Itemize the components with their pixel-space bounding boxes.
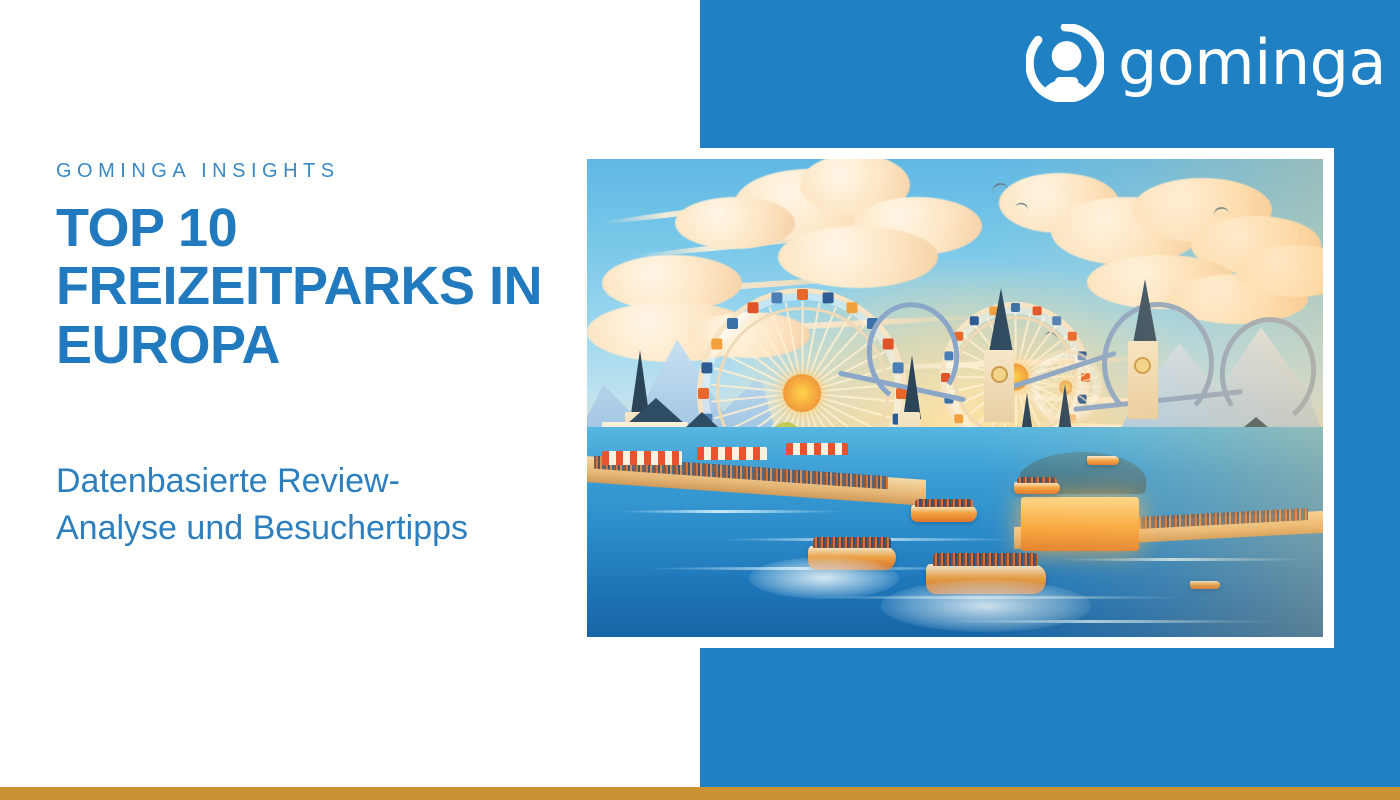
ferris-wheel-gondola	[822, 292, 833, 303]
ferris-wheel-gondola	[701, 362, 712, 373]
clock-face-icon	[991, 366, 1008, 383]
market-awning	[786, 443, 848, 455]
boat-deck-passengers	[813, 537, 890, 548]
wheel-hub	[783, 374, 821, 412]
boat-hull	[1190, 581, 1220, 589]
boat-hull	[911, 505, 977, 522]
clock-face-icon	[1134, 357, 1151, 374]
hero-image-frame	[576, 148, 1334, 648]
church-spire	[1058, 384, 1072, 432]
subtitle-line-2: Analyse und Besuchertipps	[56, 509, 468, 547]
boat-deck-passengers	[915, 499, 973, 507]
slide-root: gominga GOMINGA INSIGHTS TOP 10 FREIZEIT…	[0, 0, 1400, 800]
cloud	[778, 226, 938, 288]
boat-wake	[881, 580, 1091, 632]
church-spire	[903, 355, 921, 419]
pavilion-building	[1021, 497, 1139, 551]
bottom-accent-bar	[0, 787, 1400, 800]
ferris-wheel-gondola	[698, 388, 709, 399]
boat-wake	[749, 557, 899, 599]
boat-deck-passengers	[1017, 477, 1058, 483]
ferris-wheel-gondola	[747, 302, 758, 313]
river-boat	[1087, 456, 1119, 465]
boat-hull	[1014, 482, 1060, 494]
headline-line-3: EUROPA	[56, 315, 280, 375]
ferris-wheel-gondola	[1032, 306, 1041, 315]
headline-line-1: TOP 10	[56, 198, 237, 258]
brand-logo[interactable]: gominga	[1026, 24, 1386, 102]
ferris-wheel-gondola	[727, 318, 738, 329]
headline-block: GOMINGA INSIGHTS TOP 10 FREIZEITPARKS IN…	[56, 160, 596, 552]
boat-hull	[1087, 456, 1119, 465]
page-title: TOP 10 FREIZEITPARKS IN EUROPA	[56, 199, 596, 374]
market-awning	[697, 447, 767, 460]
ferris-wheel-gondola	[1067, 332, 1076, 341]
amusement-park-illustration	[587, 159, 1323, 637]
clock-tower-roof	[1132, 279, 1158, 349]
headline-line-2: FREIZEITPARKS IN	[56, 256, 542, 316]
ferris-wheel-gondola	[797, 289, 808, 300]
boat-deck-passengers	[933, 553, 1039, 567]
ferris-wheel-gondola	[771, 292, 782, 303]
ferris-wheel-gondola	[970, 316, 979, 325]
river-boat	[911, 505, 977, 522]
water-wave	[616, 510, 846, 513]
clock-tower	[1128, 341, 1158, 419]
cloud	[675, 197, 795, 249]
subtitle-line-1: Datenbasierte Review-	[56, 462, 400, 500]
clock-tower	[984, 350, 1014, 422]
market-awning	[602, 451, 682, 465]
river-boat	[1014, 482, 1060, 494]
brand-wordmark: gominga	[1118, 32, 1386, 94]
clock-tower-roof	[988, 288, 1014, 358]
water-wave	[1058, 558, 1308, 561]
small-boat	[1190, 581, 1220, 589]
ferris-wheel-gondola	[1052, 316, 1061, 325]
subtitle: Datenbasierte Review- Analyse und Besuch…	[56, 458, 596, 552]
ferris-wheel-gondola	[954, 414, 963, 423]
ferris-wheel-gondola	[711, 338, 722, 349]
ferris-wheel-gondola	[846, 302, 857, 313]
gominga-circle-person-icon	[1026, 24, 1104, 102]
eyebrow-label: GOMINGA INSIGHTS	[56, 160, 596, 183]
